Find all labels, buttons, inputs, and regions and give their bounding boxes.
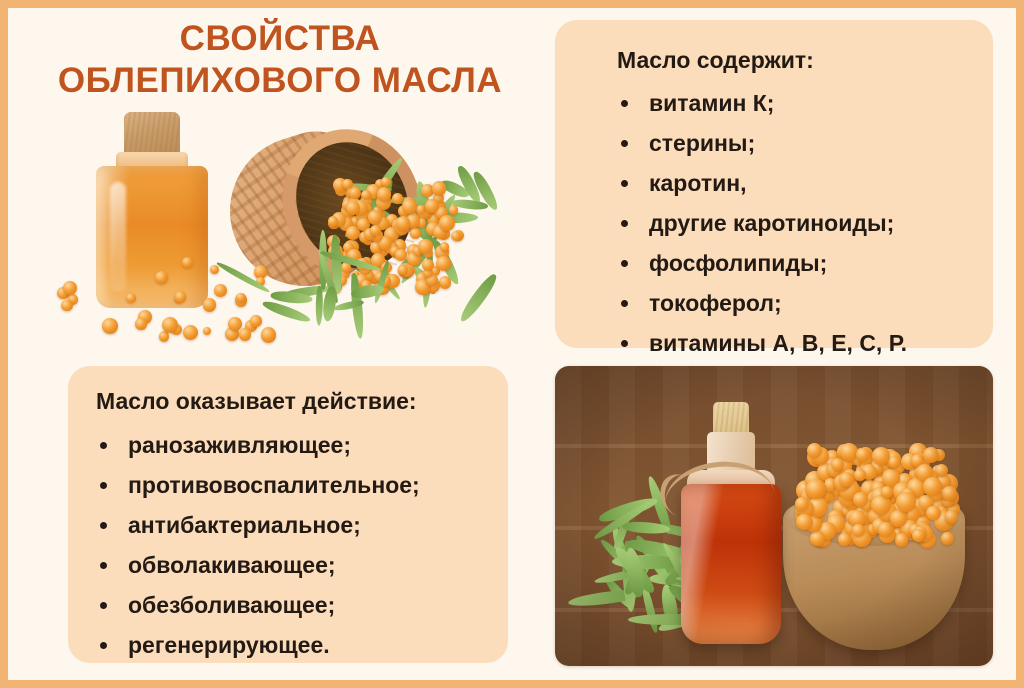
photo-scene [34, 104, 534, 354]
page-title-line-1: СВОЙСТВА [20, 18, 540, 60]
list-item-label: регенерирующее. [128, 632, 330, 658]
sea-buckthorn-oil-on-wooden-table-photo [555, 366, 993, 666]
bullet-dot-icon [100, 482, 107, 489]
list-item-label: ранозаживляющее; [128, 432, 351, 458]
berry [377, 187, 392, 202]
list-item-label: токоферол; [649, 290, 782, 316]
list-item: фосфолипиды; [617, 243, 907, 283]
berry [102, 318, 118, 334]
list-item: обезболивающее; [96, 585, 420, 625]
sea-buckthorn-oil-bottle-and-basket-photo [34, 104, 534, 354]
list-item-label: обезболивающее; [128, 592, 335, 618]
berry [155, 271, 168, 284]
list-item: каротин, [617, 163, 907, 203]
page-title-line-2: ОБЛЕПИХОВОГО МАСЛА [20, 60, 540, 102]
bullet-dot-icon [621, 220, 628, 227]
berry [436, 256, 451, 271]
list-item: антибактериальное; [96, 505, 420, 545]
berry [422, 259, 434, 271]
oil-effects-list: ранозаживляющее; противовоспалительное; … [96, 425, 420, 665]
list-item-label: обволакивающее; [128, 552, 336, 578]
berry [342, 179, 353, 190]
bullet-dot-icon [621, 340, 628, 347]
list-item: витамин К; [617, 83, 907, 123]
list-item-label: каротин, [649, 170, 747, 196]
berry [63, 281, 77, 295]
list-item: другие каротиноиды; [617, 203, 907, 243]
panel-oil-effects: Масло оказывает действие: ранозаживляюще… [68, 366, 508, 663]
panel-oil-contains-heading: Масло содержит: [617, 47, 814, 73]
bullet-dot-icon [621, 140, 628, 147]
berry [126, 293, 136, 303]
berry [61, 300, 72, 311]
berry [328, 216, 339, 227]
berry [439, 276, 452, 289]
bullet-dot-icon [100, 642, 107, 649]
infographic-poster: СВОЙСТВА ОБЛЕПИХОВОГО МАСЛА Масло содерж… [0, 0, 1024, 688]
list-item: токоферол; [617, 283, 907, 323]
berry [440, 242, 449, 251]
berry [368, 210, 382, 224]
berry [425, 199, 439, 213]
list-item-label: другие каротиноиды; [649, 210, 894, 236]
berry [392, 193, 403, 204]
bullet-dot-icon [621, 260, 628, 267]
list-item: обволакивающее; [96, 545, 420, 585]
berry [175, 291, 187, 303]
berry [346, 201, 360, 215]
leaf [456, 272, 500, 324]
berry [239, 328, 251, 340]
bullet-dot-icon [621, 100, 628, 107]
berry [395, 249, 407, 261]
berry [432, 181, 447, 196]
bullet-dot-icon [621, 300, 628, 307]
panel-oil-effects-heading: Масло оказывает действие: [96, 388, 417, 414]
bullet-dot-icon [621, 180, 628, 187]
leaf [215, 259, 271, 294]
sea-buckthorn-leaf-sprig [210, 254, 360, 324]
berry [182, 257, 193, 268]
berry [370, 225, 381, 236]
berry [261, 327, 277, 343]
berry [203, 327, 211, 335]
list-item-label: фосфолипиды; [649, 250, 827, 276]
bullet-dot-icon [100, 442, 107, 449]
berry [349, 187, 361, 199]
berry [396, 216, 411, 231]
berry [449, 205, 458, 214]
bullet-dot-icon [100, 522, 107, 529]
list-item: ранозаживляющее; [96, 425, 420, 465]
berry [402, 199, 417, 214]
berry [183, 325, 198, 340]
bullet-dot-icon [100, 562, 107, 569]
berry [361, 190, 371, 200]
list-item: противовоспалительное; [96, 465, 420, 505]
berry [159, 331, 169, 341]
list-item: регенерирующее. [96, 625, 420, 665]
list-item-label: антибактериальное; [128, 512, 361, 538]
berry [418, 239, 432, 253]
photo-vignette [555, 366, 993, 666]
list-item-label: противовоспалительное; [128, 472, 420, 498]
bullet-dot-icon [100, 602, 107, 609]
list-item-label: витамин К; [649, 90, 774, 116]
list-item: стерины; [617, 123, 907, 163]
berry [410, 228, 421, 239]
berry [439, 215, 455, 231]
berry [135, 318, 146, 329]
list-item-label: стерины; [649, 130, 755, 156]
oil-contains-list: витамин К; стерины; каротин, другие каро… [617, 83, 907, 363]
list-item: витамины А, В, Е, С, Р. [617, 323, 907, 363]
list-item-label: витамины А, В, Е, С, Р. [649, 330, 907, 356]
page-title: СВОЙСТВА ОБЛЕПИХОВОГО МАСЛА [20, 18, 540, 102]
panel-oil-contains: Масло содержит: витамин К; стерины; каро… [555, 20, 993, 348]
